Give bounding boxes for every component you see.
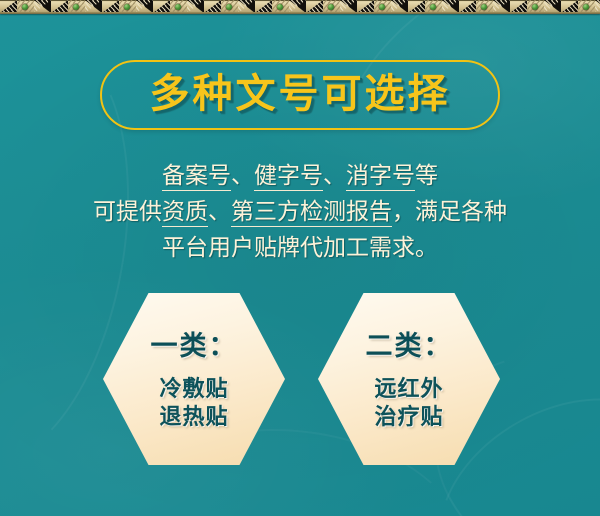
body-segment: ，满足各种: [392, 199, 507, 225]
body-segment-underlined: 备案号: [162, 163, 231, 191]
motif-gem-icon: [328, 4, 334, 10]
motif-gem-icon: [481, 4, 487, 10]
hexagon-item: 冷敷贴: [159, 375, 228, 403]
ornamental-border-strip: [0, 0, 600, 14]
body-paragraph: 备案号、健字号、消字号等 可提供资质、第三方检测报告，满足各种 平台用户贴牌代加…: [0, 158, 600, 266]
hexagon-item: 远红外: [374, 375, 443, 403]
motif-gem-icon: [379, 4, 385, 10]
body-segment-underlined: 第三方检测报告: [231, 199, 392, 227]
promo-poster: 多种文号可选择 备案号、健字号、消字号等 可提供资质、第三方检测报告，满足各种 …: [0, 0, 600, 516]
body-segment: 、: [208, 199, 231, 225]
motif-gem-icon: [22, 4, 28, 10]
body-segment: 平台用户贴牌代加工需求。: [162, 235, 438, 261]
body-line-2: 可提供资质、第三方检测报告，满足各种: [0, 194, 600, 230]
strip-bottom-edge: [0, 12, 600, 14]
body-segment: 、: [323, 163, 346, 189]
body-segment: 可提供: [93, 199, 162, 225]
motif-gem-icon: [226, 4, 232, 10]
hexagon-title: 一类：: [151, 324, 238, 363]
body-segment: 等: [415, 163, 438, 189]
body-segment-underlined: 消字号: [346, 163, 415, 191]
body-segment-underlined: 健字号: [254, 163, 323, 191]
body-line-1: 备案号、健字号、消字号等: [0, 158, 600, 194]
body-segment: 、: [231, 163, 254, 189]
body-line-3: 平台用户贴牌代加工需求。: [0, 230, 600, 266]
title-banner: 多种文号可选择: [100, 60, 500, 130]
hexagon-item: 退热贴: [159, 403, 228, 431]
page-title: 多种文号可选择: [150, 74, 451, 116]
motif-gem-icon: [430, 4, 436, 10]
hexagon-item: 治疗贴: [374, 403, 443, 431]
motif-gem-icon: [583, 4, 589, 10]
motif-gem-icon: [175, 4, 181, 10]
motif-gem-icon: [73, 4, 79, 10]
motif-gem-icon: [124, 4, 130, 10]
hexagon-title: 二类：: [366, 324, 453, 363]
motif-gem-icon: [277, 4, 283, 10]
body-segment-underlined: 资质: [162, 199, 208, 227]
motif-gem-icon: [532, 4, 538, 10]
